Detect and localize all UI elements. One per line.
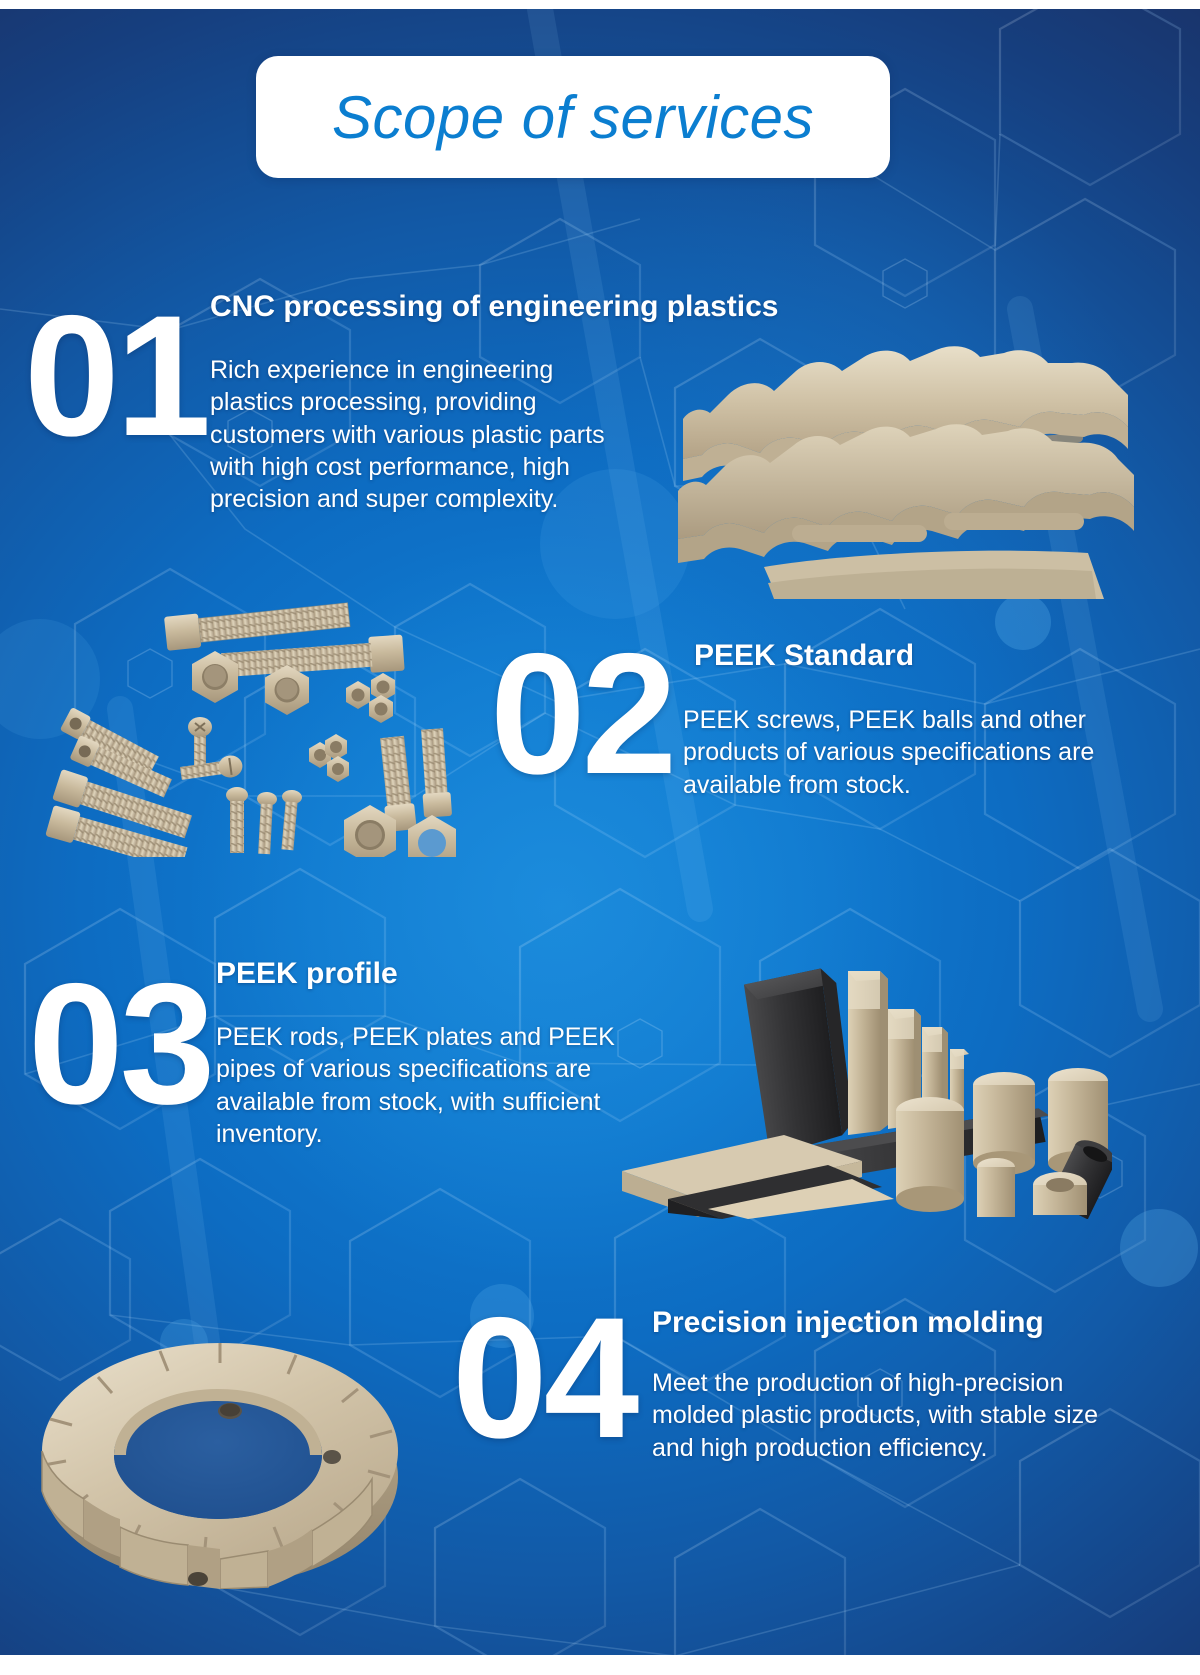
poster-background-panel: Scope of services 01 CNC processing of e… xyxy=(0,9,1200,1655)
service-body-04: Meet the production of high-precision mo… xyxy=(652,1367,1102,1464)
service-heading-04: Precision injection molding xyxy=(652,1306,1044,1340)
decorative-dot xyxy=(1120,1209,1198,1287)
service-body-02: PEEK screws, PEEK balls and other produc… xyxy=(683,704,1103,801)
service-number-02: 02 xyxy=(490,639,673,790)
service-number-04: 04 xyxy=(452,1303,635,1454)
service-number-03: 03 xyxy=(28,969,211,1120)
peek-rods-plates-tubes-image xyxy=(612,899,1112,1219)
service-number-01: 01 xyxy=(24,301,207,452)
page-title: Scope of services xyxy=(332,83,814,152)
peek-slotted-ring-part-image xyxy=(20,1259,430,1589)
service-heading-01: CNC processing of engineering plastics xyxy=(210,290,778,324)
scope-of-services-poster: Scope of services 01 CNC processing of e… xyxy=(0,0,1200,1675)
service-body-03: PEEK rods, PEEK plates and PEEK pipes of… xyxy=(216,1021,616,1150)
service-heading-02: PEEK Standard xyxy=(694,639,914,673)
cnc-machined-peek-part-image xyxy=(668,309,1138,599)
decorative-dot xyxy=(995,594,1051,650)
decorative-dot xyxy=(160,1319,208,1367)
decorative-dot xyxy=(0,619,100,739)
service-heading-03: PEEK profile xyxy=(216,957,398,991)
service-body-01: Rich experience in engineering plastics … xyxy=(210,354,640,515)
title-plate: Scope of services xyxy=(256,56,890,178)
peek-screws-and-nuts-image xyxy=(40,557,460,857)
